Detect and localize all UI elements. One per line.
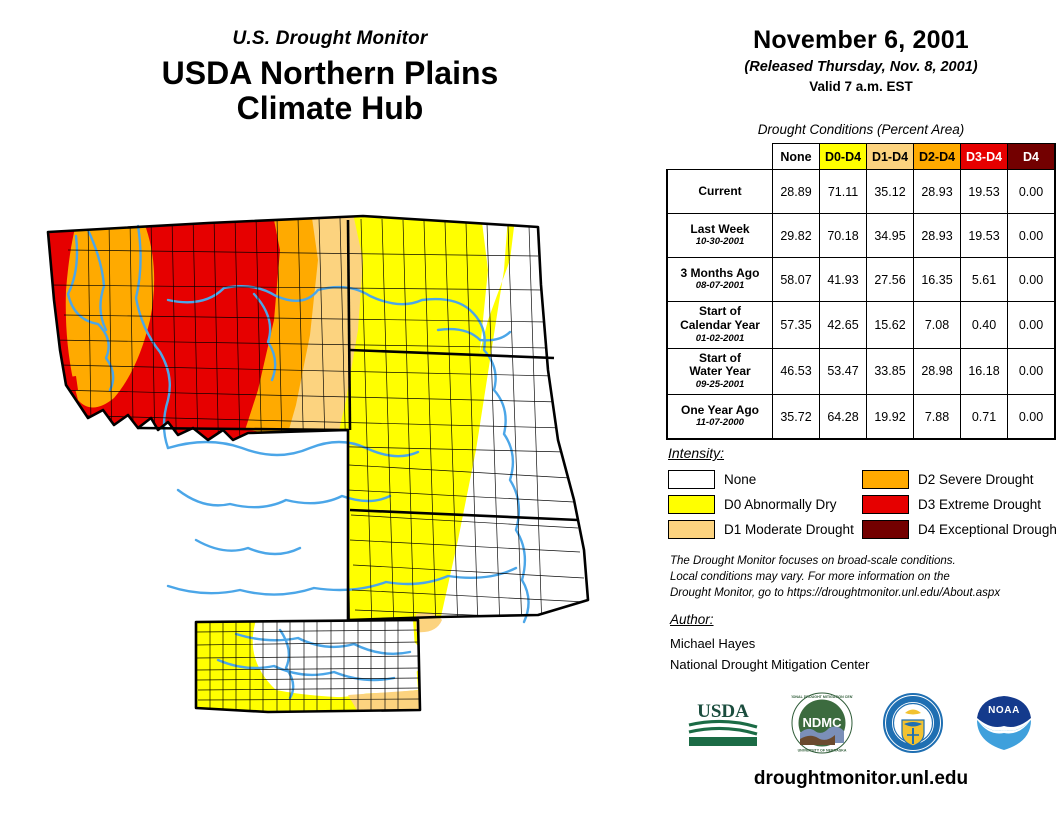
river-platte-north — [196, 540, 300, 554]
author-block: Michael Hayes National Drought Mitigatio… — [670, 634, 869, 676]
table-body: Current28.8971.1135.1228.9319.530.00Last… — [667, 170, 1055, 440]
legend-label: D1 Moderate Drought — [724, 522, 854, 537]
row-date: 09-25-2001 — [672, 380, 768, 391]
cell-d2-d4: 28.98 — [914, 348, 961, 395]
legend-column-right: D2 Severe DroughtD3 Extreme DroughtD4 Ex… — [862, 467, 1056, 542]
cell-d0-d4: 70.18 — [820, 214, 867, 258]
legend-swatch — [862, 520, 909, 539]
author-heading: Author: — [670, 612, 714, 627]
report-header: November 6, 2001 (Released Thursday, Nov… — [666, 26, 1056, 94]
table-header-none: None — [773, 144, 820, 170]
table-row: Current28.8971.1135.1228.9319.530.00 — [667, 170, 1055, 214]
legend-column-left: NoneD0 Abnormally DryD1 Moderate Drought — [668, 467, 862, 542]
cell-none: 35.72 — [773, 395, 820, 440]
cell-d0-d4: 42.65 — [820, 302, 867, 349]
cell-none: 58.07 — [773, 258, 820, 302]
row-date: 11-07-2000 — [672, 418, 768, 429]
ne-none-region — [253, 617, 418, 693]
row-label: 3 Months Ago08-07-2001 — [667, 258, 773, 302]
legend-swatch — [668, 470, 715, 489]
legend-swatch — [862, 495, 909, 514]
disclaimer-line: Drought Monitor, go to https://droughtmo… — [670, 586, 1050, 602]
cell-d4: 0.00 — [1008, 395, 1056, 440]
legend-label: D3 Extreme Drought — [918, 497, 1041, 512]
legend-swatch — [668, 495, 715, 514]
table-header-d4: D4 — [1008, 144, 1056, 170]
table-header-d3-d4: D3-D4 — [961, 144, 1008, 170]
legend-item: D1 Moderate Drought — [668, 517, 862, 542]
table-header-d0-d4: D0-D4 — [820, 144, 867, 170]
usda-logo: USDA — [685, 697, 761, 749]
disclaimer-line: The Drought Monitor focuses on broad-sca… — [670, 554, 1050, 570]
cell-none: 28.89 — [773, 170, 820, 214]
row-label: Start ofWater Year09-25-2001 — [667, 348, 773, 395]
table-header-row: NoneD0-D4D1-D4D2-D4D3-D4D4 — [667, 144, 1055, 170]
d3-region-wyoming — [128, 425, 312, 615]
footer-url: droughtmonitor.unl.edu — [666, 768, 1056, 790]
table-row: Start ofWater Year09-25-200146.5353.4733… — [667, 348, 1055, 395]
report-valid-time: Valid 7 a.m. EST — [666, 79, 1056, 94]
disclaimer-text: The Drought Monitor focuses on broad-sca… — [670, 554, 1050, 602]
legend-label: D0 Abnormally Dry — [724, 497, 837, 512]
cell-d4: 0.00 — [1008, 348, 1056, 395]
cell-d1-d4: 35.12 — [867, 170, 914, 214]
table-row: 3 Months Ago08-07-200158.0741.9327.5616.… — [667, 258, 1055, 302]
legend-label: None — [724, 472, 756, 487]
cell-d0-d4: 71.11 — [820, 170, 867, 214]
legend-item: D0 Abnormally Dry — [668, 492, 862, 517]
legend-item: None — [668, 467, 862, 492]
row-date: 10-30-2001 — [672, 237, 768, 248]
cell-d2-d4: 7.08 — [914, 302, 961, 349]
cell-d0-d4: 41.93 — [820, 258, 867, 302]
cell-d1-d4: 19.92 — [867, 395, 914, 440]
disclaimer-line: Local conditions may vary. For more info… — [670, 570, 1050, 586]
cell-d4: 0.00 — [1008, 302, 1056, 349]
legend-item: D2 Severe Drought — [862, 467, 1056, 492]
cell-d1-d4: 34.95 — [867, 214, 914, 258]
row-label: One Year Ago11-07-2000 — [667, 395, 773, 440]
cell-d1-d4: 27.56 — [867, 258, 914, 302]
cell-d3-d4: 16.18 — [961, 348, 1008, 395]
title-line-1: USDA Northern Plains — [0, 56, 660, 91]
cell-d4: 0.00 — [1008, 258, 1056, 302]
page-title: U.S. Drought Monitor USDA Northern Plain… — [0, 28, 660, 125]
table-row: Last Week10-30-200129.8270.1834.9528.931… — [667, 214, 1055, 258]
row-label: Last Week10-30-2001 — [667, 214, 773, 258]
legend-label: D2 Severe Drought — [918, 472, 1034, 487]
cell-d3-d4: 19.53 — [961, 214, 1008, 258]
legend-label: D4 Exceptional Drought — [918, 522, 1056, 537]
title-main: USDA Northern Plains Climate Hub — [0, 56, 660, 125]
cell-d2-d4: 7.88 — [914, 395, 961, 440]
map-nebraska-panel — [178, 610, 438, 720]
legend-item: D3 Extreme Drought — [862, 492, 1056, 517]
noaa-seal-logo — [883, 693, 943, 753]
intensity-legend: Intensity: NoneD0 Abnormally DryD1 Moder… — [668, 445, 1056, 542]
cell-d2-d4: 16.35 — [914, 258, 961, 302]
svg-text:NATIONAL DROUGHT MITIGATION CE: NATIONAL DROUGHT MITIGATION CENTER — [791, 695, 853, 699]
table-header-d1-d4: D1-D4 — [867, 144, 914, 170]
cell-d3-d4: 19.53 — [961, 170, 1008, 214]
legend-title: Intensity: — [668, 445, 1056, 461]
svg-text:USDA: USDA — [697, 701, 749, 722]
svg-text:UNIVERSITY OF NEBRASKA: UNIVERSITY OF NEBRASKA — [798, 748, 847, 752]
title-subheading: U.S. Drought Monitor — [0, 28, 660, 50]
svg-text:NDMC: NDMC — [803, 715, 843, 730]
author-name: Michael Hayes — [670, 634, 869, 655]
table-row: One Year Ago11-07-200035.7264.2819.927.8… — [667, 395, 1055, 440]
row-label: Start ofCalendar Year01-02-2001 — [667, 302, 773, 349]
row-label: Current — [667, 170, 773, 214]
cell-d4: 0.00 — [1008, 170, 1056, 214]
drought-map-svg — [18, 190, 648, 720]
cell-d1-d4: 15.62 — [867, 302, 914, 349]
report-date: November 6, 2001 — [666, 26, 1056, 55]
report-released: (Released Thursday, Nov. 8, 2001) — [666, 59, 1056, 75]
cell-d0-d4: 53.47 — [820, 348, 867, 395]
cell-none: 46.53 — [773, 348, 820, 395]
cell-d3-d4: 0.71 — [961, 395, 1008, 440]
cell-none: 57.35 — [773, 302, 820, 349]
cell-d1-d4: 33.85 — [867, 348, 914, 395]
cell-d3-d4: 5.61 — [961, 258, 1008, 302]
ndmc-logo: NDMC NATIONAL DROUGHT MITIGATION CENTER … — [791, 692, 853, 754]
cell-d2-d4: 28.93 — [914, 170, 961, 214]
row-date: 01-02-2001 — [672, 334, 768, 345]
cell-d0-d4: 64.28 — [820, 395, 867, 440]
legend-item: D4 Exceptional Drought — [862, 517, 1056, 542]
table-header-corner — [667, 144, 773, 170]
logo-row: USDA NDMC NATIONAL DROUGHT MITIGATION CE… — [670, 690, 1050, 755]
table-caption: Drought Conditions (Percent Area) — [666, 122, 1056, 137]
legend-swatch — [668, 520, 715, 539]
noaa-logo: NOAA — [973, 694, 1035, 752]
row-date: 08-07-2001 — [672, 281, 768, 292]
legend-swatch — [862, 470, 909, 489]
title-line-2: Climate Hub — [0, 91, 660, 126]
cell-d2-d4: 28.93 — [914, 214, 961, 258]
table-row: Start ofCalendar Year01-02-200157.3542.6… — [667, 302, 1055, 349]
author-org: National Drought Mitigation Center — [670, 655, 869, 676]
cell-none: 29.82 — [773, 214, 820, 258]
table-header-d2-d4: D2-D4 — [914, 144, 961, 170]
cell-d4: 0.00 — [1008, 214, 1056, 258]
drought-map — [18, 190, 648, 720]
svg-text:NOAA: NOAA — [988, 705, 1020, 716]
drought-conditions-table: NoneD0-D4D1-D4D2-D4D3-D4D4 Current28.897… — [666, 143, 1056, 440]
cell-d3-d4: 0.40 — [961, 302, 1008, 349]
